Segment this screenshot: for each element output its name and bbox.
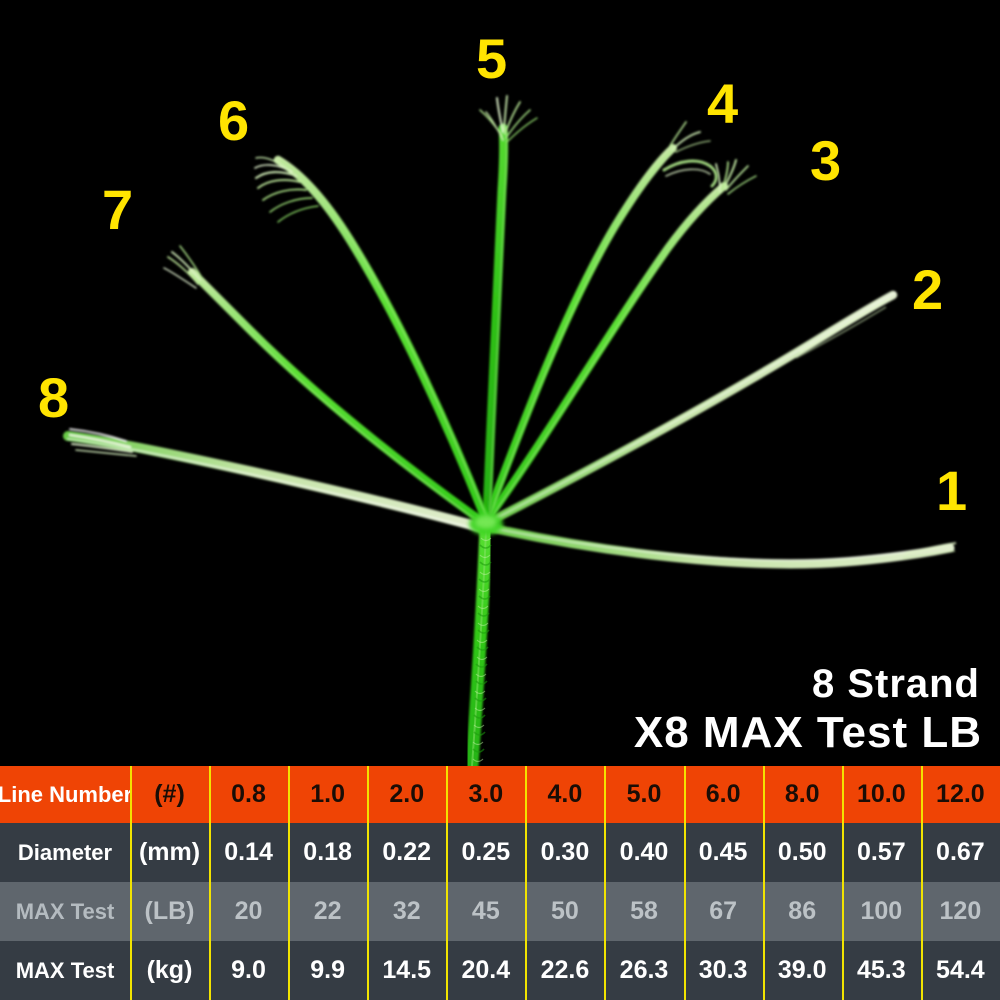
cell-max-test-lb-10: 120: [921, 882, 1000, 941]
cell-max-test-lb-5: 50: [525, 882, 604, 941]
cell-line-number-4: 3.0: [446, 766, 525, 823]
cell-max-test-kg-7: 30.3: [684, 941, 763, 1000]
product-image-root: 1 2 3 4 5 6 7 8 8 Strand X8 MAX Test LB …: [0, 0, 1000, 1000]
cell-line-number-5: 4.0: [525, 766, 604, 823]
cell-max-test-kg-6: 26.3: [604, 941, 683, 1000]
cell-diameter-10: 0.67: [921, 823, 1000, 882]
caption-strand-count: 8 Strand: [812, 663, 980, 705]
cell-max-test-lb-9: 100: [842, 882, 921, 941]
cell-line-number-2: 1.0: [288, 766, 367, 823]
table-row-diameter: Diameter (mm) 0.14 0.18 0.22 0.25 0.30 0…: [0, 823, 1000, 882]
strand-label-8: 8: [38, 370, 68, 426]
strand-label-6: 6: [218, 93, 248, 149]
row-unit-max-test-lb: (LB): [130, 882, 209, 941]
cell-max-test-kg-9: 45.3: [842, 941, 921, 1000]
strand-label-4: 4: [707, 76, 737, 132]
strand-label-5: 5: [476, 31, 506, 87]
cell-max-test-kg-8: 39.0: [763, 941, 842, 1000]
cell-diameter-8: 0.50: [763, 823, 842, 882]
row-label-max-test-lb: MAX Test: [0, 882, 130, 941]
cell-line-number-10: 12.0: [921, 766, 1000, 823]
cell-max-test-lb-3: 32: [367, 882, 446, 941]
cell-line-number-7: 6.0: [684, 766, 763, 823]
table-row-max-test-kg: MAX Test (kg) 9.0 9.9 14.5 20.4 22.6 26.…: [0, 941, 1000, 1000]
caption-model: X8 MAX Test LB: [634, 710, 982, 756]
cell-diameter-5: 0.30: [525, 823, 604, 882]
cell-max-test-kg-2: 9.9: [288, 941, 367, 1000]
cell-max-test-lb-4: 45: [446, 882, 525, 941]
cell-diameter-2: 0.18: [288, 823, 367, 882]
strand-label-2: 2: [912, 262, 942, 318]
spec-table: Line Number (#) 0.8 1.0 2.0 3.0 4.0 5.0 …: [0, 766, 1000, 1000]
cell-max-test-kg-5: 22.6: [525, 941, 604, 1000]
table-row-line-number: Line Number (#) 0.8 1.0 2.0 3.0 4.0 5.0 …: [0, 766, 1000, 823]
cell-diameter-1: 0.14: [209, 823, 288, 882]
cell-line-number-9: 10.0: [842, 766, 921, 823]
cell-max-test-kg-1: 9.0: [209, 941, 288, 1000]
cell-line-number-6: 5.0: [604, 766, 683, 823]
cell-diameter-3: 0.22: [367, 823, 446, 882]
strand-label-7: 7: [102, 182, 132, 238]
strand-label-3: 3: [810, 133, 840, 189]
cell-diameter-4: 0.25: [446, 823, 525, 882]
cell-max-test-lb-1: 20: [209, 882, 288, 941]
row-label-max-test-kg: MAX Test: [0, 941, 130, 1000]
cell-max-test-kg-10: 54.4: [921, 941, 1000, 1000]
cell-line-number-1: 0.8: [209, 766, 288, 823]
strand-label-1: 1: [936, 463, 966, 519]
cell-max-test-lb-6: 58: [604, 882, 683, 941]
row-unit-line-number: (#): [130, 766, 209, 823]
cell-max-test-lb-7: 67: [684, 882, 763, 941]
braided-line-photo: 1 2 3 4 5 6 7 8 8 Strand X8 MAX Test LB: [0, 0, 1000, 766]
cell-max-test-lb-8: 86: [763, 882, 842, 941]
convergence-node: [469, 513, 503, 535]
row-label-line-number: Line Number: [0, 766, 130, 823]
cell-max-test-kg-4: 20.4: [446, 941, 525, 1000]
cell-max-test-lb-2: 22: [288, 882, 367, 941]
cell-diameter-7: 0.45: [684, 823, 763, 882]
table-row-max-test-lb: MAX Test (LB) 20 22 32 45 50 58 67 86 10…: [0, 882, 1000, 941]
row-unit-diameter: (mm): [130, 823, 209, 882]
cell-diameter-9: 0.57: [842, 823, 921, 882]
cell-max-test-kg-3: 14.5: [367, 941, 446, 1000]
cell-diameter-6: 0.40: [604, 823, 683, 882]
cell-line-number-8: 8.0: [763, 766, 842, 823]
row-label-diameter: Diameter: [0, 823, 130, 882]
row-unit-max-test-kg: (kg): [130, 941, 209, 1000]
cell-line-number-3: 2.0: [367, 766, 446, 823]
strand-illustration: [0, 0, 1000, 766]
